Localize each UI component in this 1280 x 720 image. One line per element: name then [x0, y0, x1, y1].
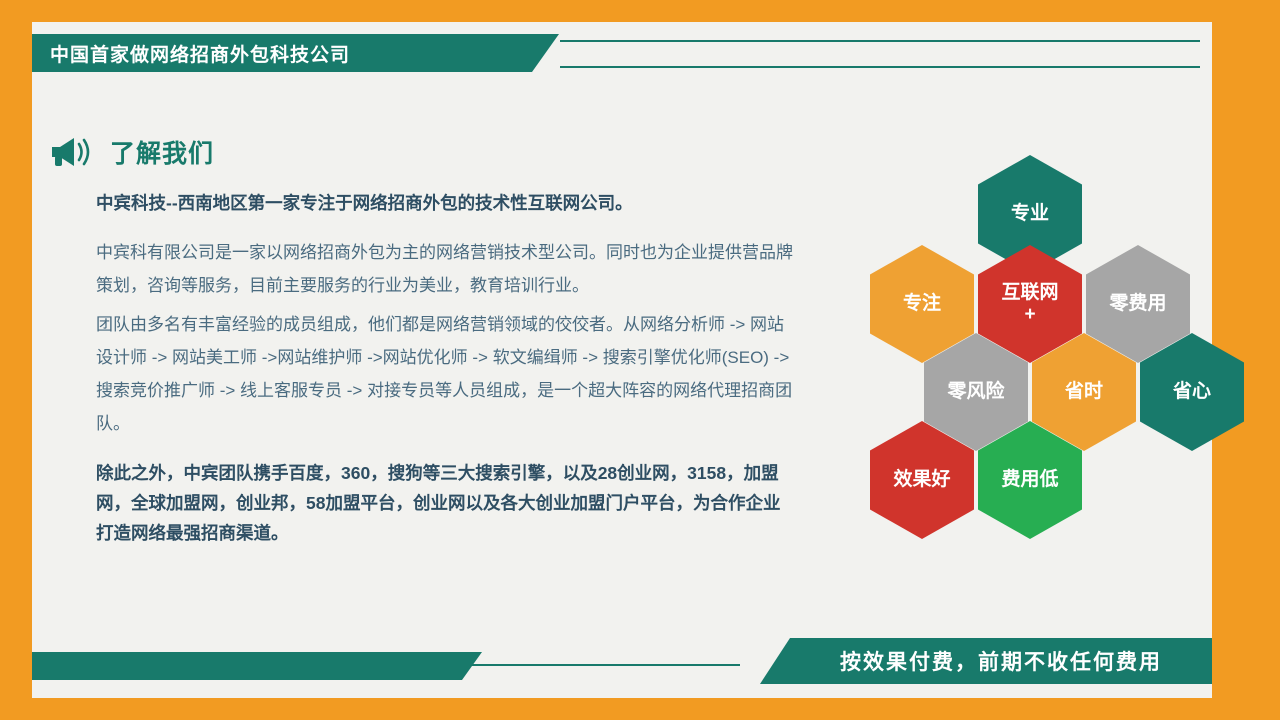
footer-slogan: 按效果付费，前期不收任何费用 — [840, 646, 1162, 676]
paragraph-1: 中宾科有限公司是一家以网络招商外包为主的网络营销技术型公司。同时也为企业提供营品… — [96, 236, 796, 302]
hexagon-cluster: 专业专注互联网+零费用零风险省时省心效果好费用低 — [830, 155, 1220, 555]
hexagon-label: 零风险 — [947, 381, 1004, 403]
footer-rule — [470, 664, 740, 666]
paragraph-2: 团队由多名有丰富经验的成员组成，他们都是网络营销领域的佼佼者。从网络分析师 ->… — [96, 308, 796, 440]
header-rule-top — [560, 40, 1200, 42]
hexagon-label: 费用低 — [1001, 469, 1058, 491]
slide: 中国首家做网络招商外包科技公司 了解我们 中宾科技--西南地区第一家专注于网络招… — [0, 0, 1280, 720]
header-bar: 中国首家做网络招商外包科技公司 — [32, 34, 532, 72]
hexagon-label: 专业 — [1011, 203, 1049, 225]
hexagon-label: 专注 — [903, 293, 941, 315]
hexagon-label: 省时 — [1065, 381, 1103, 403]
hexagon-label: 效果好 — [893, 469, 950, 491]
closing-paragraph: 除此之外，中宾团队携手百度，360，搜狗等三大搜索引擎，以及28创业网，3158… — [96, 458, 796, 548]
megaphone-icon — [48, 135, 92, 169]
header-rule-bottom — [560, 66, 1200, 68]
lead-paragraph: 中宾科技--西南地区第一家专注于网络招商外包的技术性互联网公司。 — [96, 188, 796, 218]
hexagon-label: 省心 — [1173, 381, 1211, 403]
about-text-block: 中宾科技--西南地区第一家专注于网络招商外包的技术性互联网公司。 中宾科有限公司… — [96, 188, 796, 548]
footer-bar-right: 按效果付费，前期不收任何费用 — [790, 638, 1212, 684]
footer-bar-left — [32, 652, 462, 680]
header-title: 中国首家做网络招商外包科技公司 — [50, 40, 350, 67]
hexagon-label: 互联网+ — [1001, 282, 1058, 326]
hexagon-label: 零费用 — [1109, 293, 1166, 315]
section-title: 了解我们 — [110, 134, 214, 170]
section-heading: 了解我们 — [48, 134, 214, 170]
